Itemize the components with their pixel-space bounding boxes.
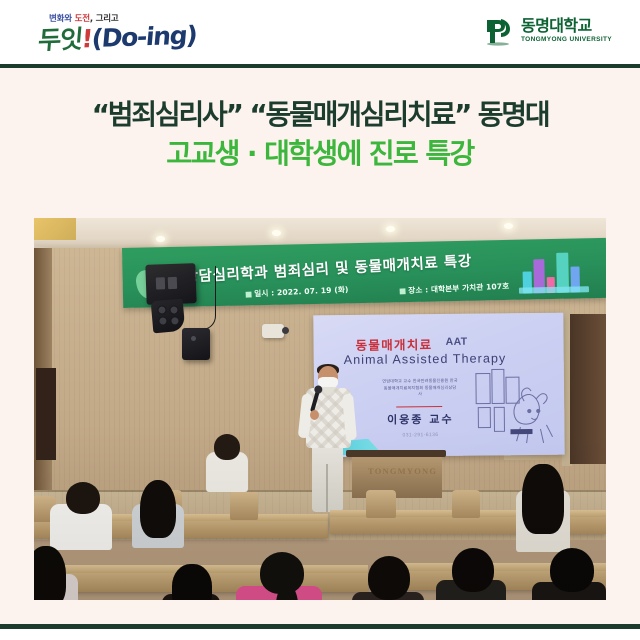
banner-bullet-where-icon: ■ [399,286,407,295]
lecture-hall-photo: 상담심리학과 범죄심리 및 동물매개치료 특강 ■일시 : 2022. 07. … [34,218,606,600]
brand-wordmark: 두잇!(Do-ing) [37,16,198,57]
person-head [522,464,564,534]
footer-strip [0,629,640,640]
presenter-hand [310,410,319,420]
slide-dog-illustration-icon [474,367,555,448]
banner-when: ■일시 : 2022. 07. 19 (화) [245,284,349,300]
tongmyong-emblem-icon [484,16,514,46]
person-head [140,480,176,538]
doing-brand-logo[interactable]: 변화와 도전, 그리고 두잇!(Do-ing) [40,12,190,58]
banner-where: ■장소 : 대학본부 가치관 107호 [399,281,510,297]
slide-affiliation: 연암대학교 교수 한국반려동물진흥원 한국동물매개치료복지협회 동물매개심리상담… [382,378,458,398]
card-header: 변화와 도전, 그리고 두잇!(Do-ing) 동명대학교 TONGMYONG … [0,0,640,66]
banner-cityscape-icon [518,246,589,293]
page-title: “범죄심리사” “동물매개심리치료” 동명대 고교생 · 대학생에 진로 특강 [0,98,640,170]
person-head [34,546,66,600]
university-logo[interactable]: 동명대학교 TONGMYONG UNIVERSITY [484,16,612,46]
university-names: 동명대학교 TONGMYONG UNIVERSITY [521,18,612,44]
ceiling-light-1 [156,236,165,242]
speaker-cone-1 [157,305,167,315]
brand-word-en: (Do-ing) [90,21,197,54]
speaker-cone-2 [158,316,168,326]
slide-divider [396,406,442,407]
slide-telephone: 031-291-6136 [380,432,460,439]
banner-title: 상담심리학과 범죄심리 및 동물매개치료 특강 [184,250,472,287]
person-head [452,548,494,592]
university-name-kr: 동명대학교 [521,18,612,34]
chair-back-5 [452,490,480,518]
lectern-logo: TONGMYONG [368,466,437,476]
presenter-figure [298,366,358,516]
door-right [570,314,606,464]
slide-title-kr: 동물매개치료 [355,334,432,354]
ceiling-light-3 [386,226,395,232]
lectern-top [346,450,446,457]
wall-recess-left [36,368,56,460]
page-title-line-1: “범죄심리사” “동물매개심리치료” 동명대 [0,98,640,131]
person-head [550,548,594,592]
social-card: 변화와 도전, 그리고 두잇!(Do-ing) 동명대학교 TONGMYONG … [0,0,640,640]
security-camera-left-icon [262,324,284,338]
slide-title-en: Animal Assisted Therapy [344,351,507,367]
person-head [368,556,410,600]
chair-back-4 [366,490,396,518]
ceiling-light-4 [504,223,513,229]
monitor-speaker-small [182,328,210,360]
university-name-en: TONGMYONG UNIVERSITY [521,37,612,44]
ceiling-light-2 [272,230,281,236]
header-divider [0,64,640,68]
ceiling-panel-yellow [34,218,76,240]
slide-presenter-name: 이웅종 교수 [374,411,466,428]
speaker-cable [194,266,216,330]
person-head [214,434,240,460]
speaker-cone-3 [169,305,179,315]
person-head [66,482,100,514]
chair-back-3 [230,492,258,520]
brand-word-kr: 두잇 [37,24,83,54]
person-head [172,564,212,600]
banner-where-text: 장소 : 대학본부 가치관 107호 [408,282,509,296]
speaker-cone-4 [170,316,180,326]
page-title-line-2: 고교생 · 대학생에 진로 특강 [0,137,640,170]
banner-bullet-when-icon: ■ [245,289,253,298]
presenter-trousers [312,444,343,512]
banner-when-text: 일시 : 2022. 07. 19 (화) [254,285,349,298]
slide-title-abbr: AAT [445,336,467,348]
